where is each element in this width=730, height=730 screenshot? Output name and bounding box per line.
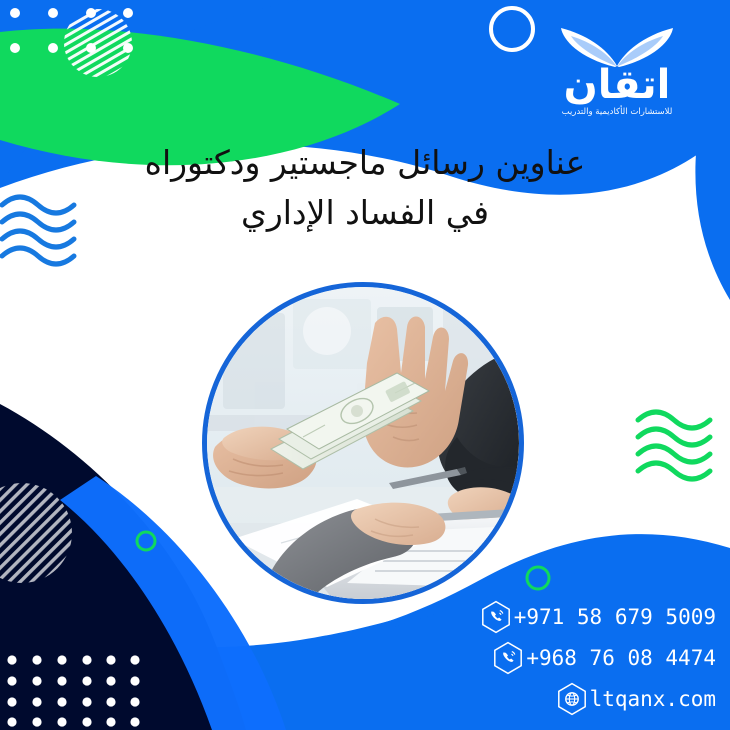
contact-value-website: ltqanx.com <box>590 689 716 710</box>
title-line-1: عناوين رسائل ماجستير ودكتوراه <box>120 138 610 188</box>
contact-value-phone-1: +971 58 679 5009 <box>514 607 716 628</box>
title-line-2: في الفساد الإداري <box>120 188 610 238</box>
poster-title: عناوين رسائل ماجستير ودكتوراه في الفساد … <box>0 138 730 238</box>
hero-photo-frame <box>202 282 524 604</box>
contact-row-phone-1[interactable]: +971 58 679 5009 <box>480 600 716 634</box>
contact-value-phone-2: +968 76 08 4474 <box>526 648 716 669</box>
poster-canvas: اتقان للاستشارات الأكاديمية والتدريب عنا… <box>0 0 730 730</box>
contact-block: +971 58 679 5009 +968 76 08 4474 ltqanx.… <box>480 600 716 716</box>
globe-icon <box>556 682 588 716</box>
bribery-refusal-illustration <box>207 287 519 599</box>
hero-photo <box>207 287 519 599</box>
contact-row-website[interactable]: ltqanx.com <box>556 682 716 716</box>
striped-circle-top-left <box>64 9 132 77</box>
phone-ring-icon <box>480 600 512 634</box>
contact-row-phone-2[interactable]: +968 76 08 4474 <box>492 641 716 675</box>
phone-ring-icon <box>492 641 524 675</box>
wave-lines-right <box>638 412 710 479</box>
